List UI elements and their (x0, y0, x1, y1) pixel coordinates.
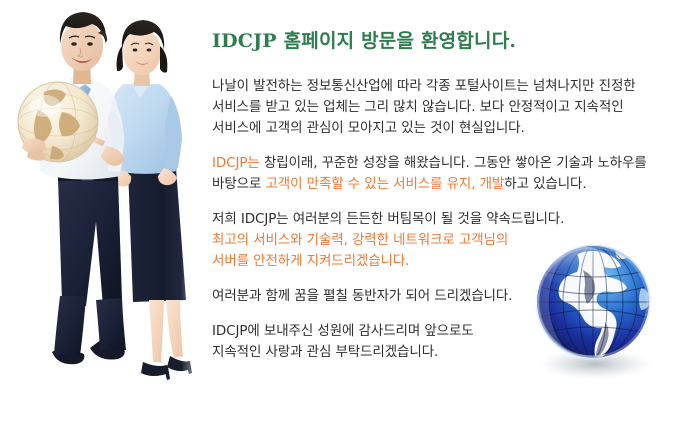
text-line: IDCJP는 창립이래, 꾸준한 성장을 해왔습니다. 그동안 쌓아온 기술과 … (212, 153, 660, 174)
highlight-text: 최고의 서비스와 기술력, 강력한 네트워크로 고객님의 (212, 232, 508, 248)
text-line: 바탕으로 고객이 만족할 수 있는 서비스를 유지, 개발하고 있습니다. (212, 174, 660, 195)
highlight-text: 서버를 안전하게 지켜드리겠습니다. (212, 253, 409, 269)
paragraph-intro: 나날이 발전하는 정보통신산업에 따라 각종 포털사이트는 넘쳐나지만 진정한 … (212, 76, 660, 139)
text-line: 서버를 안전하게 지켜드리겠습니다. (212, 251, 660, 272)
welcome-content: IDCJP 홈페이지 방문을 환영합니다. 나날이 발전하는 정보통신산업에 따… (212, 28, 660, 363)
text-line: 서비스에 고객의 관심이 모아지고 있는 것이 현실입니다. (212, 118, 660, 139)
text-line: 나날이 발전하는 정보통신산업에 따라 각종 포털사이트는 넘쳐나지만 진정한 (212, 76, 660, 97)
text-line: 여러분과 함께 꿈을 펼칠 동반자가 되어 드리겠습니다. (212, 286, 660, 307)
page-title: IDCJP 홈페이지 방문을 환영합니다. (212, 28, 660, 54)
text-line: 최고의 서비스와 기술력, 강력한 네트워크로 고객님의 (212, 230, 660, 251)
paragraph-promise: 저희 IDCJP는 여러분의 든든한 버팀목이 될 것을 약속드립니다. 최고의… (212, 209, 660, 272)
paragraph-growth: IDCJP는 창립이래, 꾸준한 성장을 해왔습니다. 그동안 쌓아온 기술과 … (212, 153, 660, 195)
text-line: 서비스를 받고 있는 업체는 그리 많치 않습니다. 보다 안정적이고 지속적인 (212, 97, 660, 118)
text-line: IDCJP에 보내주신 성원에 감사드리며 앞으로도 (212, 321, 660, 342)
text-line: 저희 IDCJP는 여러분의 든든한 버팀목이 될 것을 약속드립니다. (212, 209, 660, 230)
business-people-photo (0, 0, 215, 431)
text-line: 지속적인 사랑과 관심 부탁드리겠습니다. (212, 342, 660, 363)
paragraph-thanks: IDCJP에 보내주신 성원에 감사드리며 앞으로도 지속적인 사랑과 관심 부… (212, 321, 660, 363)
page-root: IDCJP 홈페이지 방문을 환영합니다. 나날이 발전하는 정보통신산업에 따… (0, 0, 680, 431)
highlight-text: 고객이 만족할 수 있는 서비스를 유지, 개발 (265, 176, 504, 192)
paragraph-partner: 여러분과 함께 꿈을 펼칠 동반자가 되어 드리겠습니다. (212, 286, 660, 307)
highlight-text: IDCJP는 (212, 155, 260, 171)
